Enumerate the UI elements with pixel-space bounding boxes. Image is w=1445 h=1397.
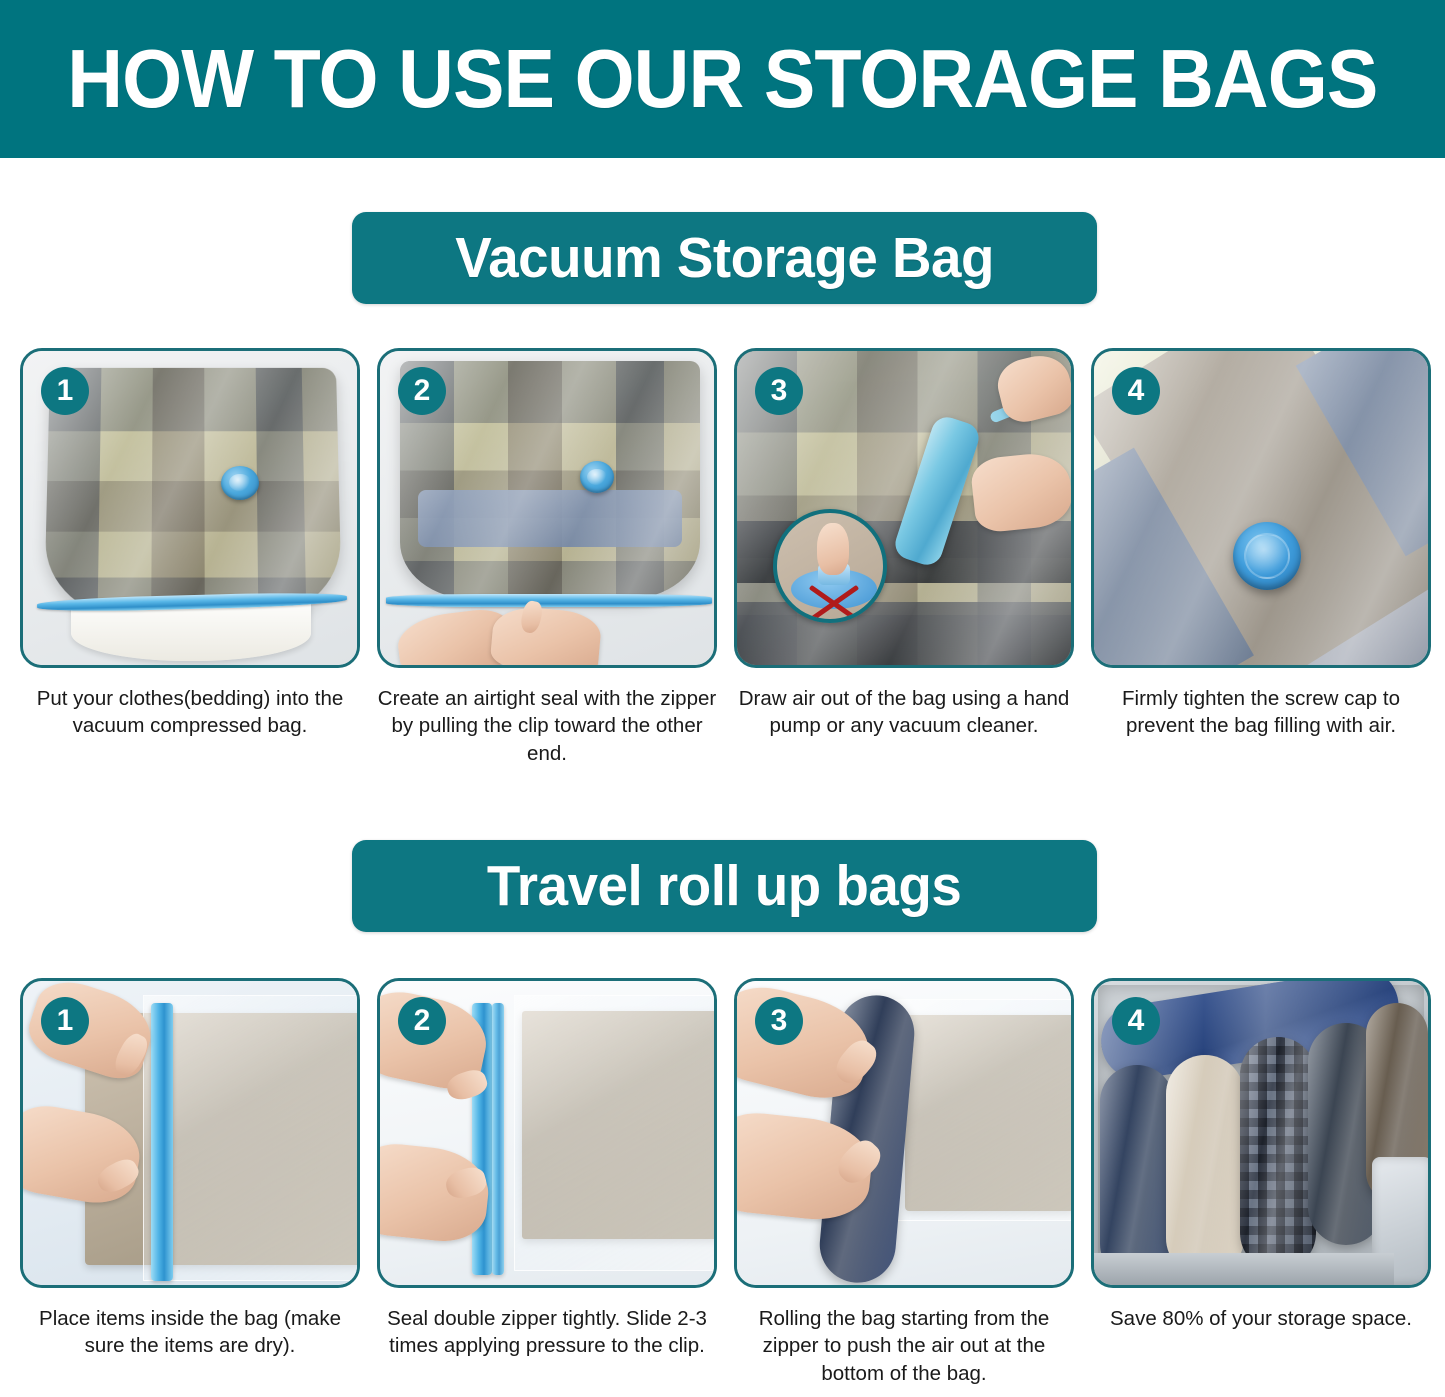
step-caption: Seal double zipper tightly. Slide 2-3 ti… [377, 1305, 717, 1360]
step-caption: Draw air out of the bag using a hand pum… [734, 685, 1074, 740]
section-heading-travel-label: Travel roll up bags [487, 853, 961, 919]
step-badge: 1 [41, 367, 89, 415]
step-card: 3 Rolling the bag starting from the zipp… [734, 978, 1074, 1387]
step-photo-hand-pump: 3 [734, 348, 1074, 668]
step-card: 2 Seal double zipper tightly. Slide 2-3 … [377, 978, 717, 1387]
double-zipper-icon [492, 1003, 504, 1275]
step-card: 2 Create an airtight seal with the zippe… [377, 348, 717, 767]
step-photo-plaid-bag-sealing: 2 [377, 348, 717, 668]
warning-inset [773, 509, 887, 623]
infographic-page: HOW TO USE OUR STORAGE BAGS Vacuum Stora… [0, 0, 1445, 1397]
step-card: 1 Put your clothes(bedding) into the vac… [20, 348, 360, 767]
vacuum-bag [44, 368, 342, 619]
step-caption: Save 80% of your storage space. [1091, 1305, 1431, 1332]
step-photo-screw-cap: 4 [1091, 348, 1431, 668]
step-badge: 3 [755, 997, 803, 1045]
bag-opening [71, 603, 311, 661]
finger-pressing-valve [817, 523, 849, 575]
step-badge: 1 [41, 997, 89, 1045]
warning-x-icon [805, 581, 863, 621]
step-photo-packed-suitcase: 4 [1091, 978, 1431, 1288]
valve-icon [221, 466, 259, 500]
step-badge: 3 [755, 367, 803, 415]
step-photo-plaid-bag-open: 1 [20, 348, 360, 668]
header-banner: HOW TO USE OUR STORAGE BAGS [0, 0, 1445, 158]
step-photo-rolling-bag: 3 [734, 978, 1074, 1288]
step-badge: 2 [398, 367, 446, 415]
section-heading-travel: Travel roll up bags [352, 840, 1097, 932]
step-card: 1 Place items inside the bag (make sure … [20, 978, 360, 1387]
vacuum-steps-row: 1 Put your clothes(bedding) into the vac… [20, 348, 1428, 767]
section-heading-vacuum: Vacuum Storage Bag [352, 212, 1097, 304]
step-card: 4 Save 80% of your storage space. [1091, 978, 1431, 1387]
bag-film [895, 999, 1074, 1221]
step-badge: 2 [398, 997, 446, 1045]
step-caption: Firmly tighten the screw cap to prevent … [1091, 685, 1431, 740]
zipper-icon [386, 594, 712, 607]
section-heading-vacuum-label: Vacuum Storage Bag [455, 225, 994, 291]
rolled-bag-cream [1166, 1055, 1244, 1277]
plastic-sheen-icon [44, 368, 342, 619]
zipper-icon [151, 1003, 173, 1281]
step-caption: Put your clothes(bedding) into the vacuu… [20, 685, 360, 740]
rolled-bag-plaid [1240, 1037, 1316, 1271]
travel-steps-row: 1 Place items inside the bag (make sure … [20, 978, 1428, 1387]
step-caption: Create an airtight seal with the zipper … [377, 685, 717, 767]
rolled-bag-dark [1100, 1065, 1174, 1281]
bag-film [514, 995, 717, 1271]
bag-film [143, 995, 360, 1281]
suitcase-rim [1094, 1253, 1394, 1287]
page-title: HOW TO USE OUR STORAGE BAGS [67, 31, 1377, 127]
valve-icon [580, 461, 614, 493]
step-photo-place-items: 1 [20, 978, 360, 1288]
step-badge: 4 [1112, 997, 1160, 1045]
step-badge: 4 [1112, 367, 1160, 415]
step-caption: Rolling the bag starting from the zipper… [734, 1305, 1074, 1387]
step-card: 3 Draw air out of the bag using a hand p… [734, 348, 1074, 767]
screw-cap-icon [1233, 522, 1301, 590]
step-caption: Place items inside the bag (make sure th… [20, 1305, 360, 1360]
step-card: 4 Firmly tighten the screw cap to preven… [1091, 348, 1431, 767]
step-photo-seal-zipper: 2 [377, 978, 717, 1288]
